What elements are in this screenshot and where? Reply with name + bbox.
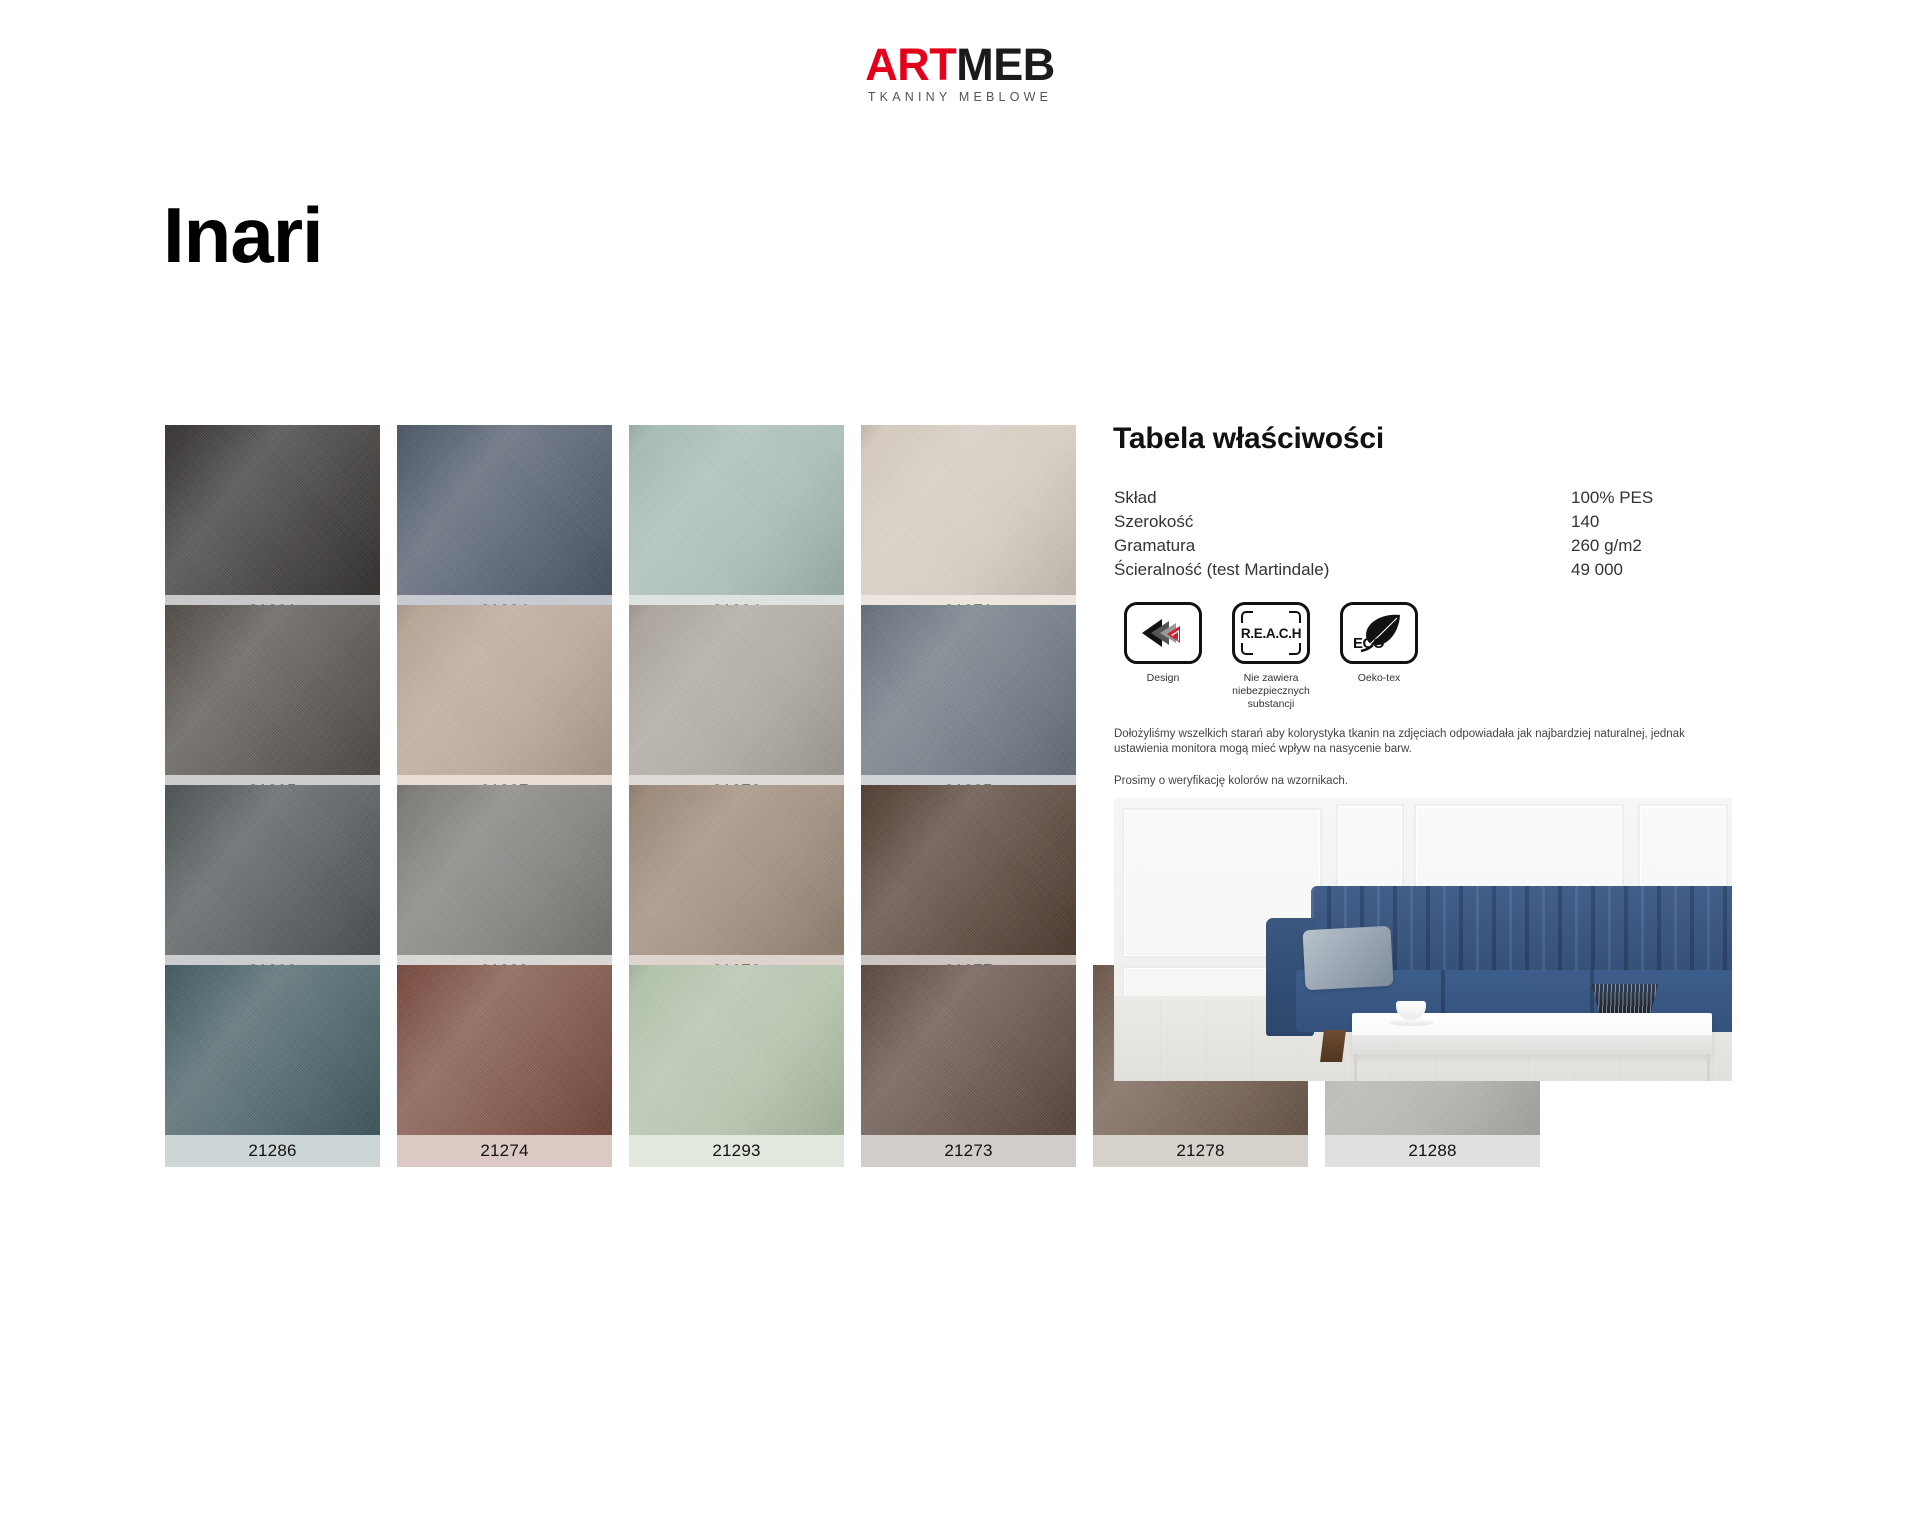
disclaimer-paragraph-2: Prosimy o weryfikację kolorów na wzornik… — [1114, 774, 1732, 789]
fabric-swatch[interactable]: 21273 — [861, 965, 1076, 1167]
property-row: Ścieralność (test Martindale)49 000 — [1114, 558, 1724, 582]
corner-bottom-right — [1289, 643, 1301, 655]
design-arrow-icon — [1124, 602, 1202, 664]
fabric-swatch-code: 21278 — [1093, 1135, 1308, 1167]
throw-pillow — [1302, 926, 1393, 991]
property-key: Skład — [1114, 486, 1571, 510]
fabric-swatch-code: 21288 — [1325, 1135, 1540, 1167]
badge-design-caption: Design — [1124, 672, 1202, 685]
eco-label: ECO — [1353, 635, 1384, 652]
property-value: 49 000 — [1571, 558, 1724, 582]
fabric-swatch-code: 21273 — [861, 1135, 1076, 1167]
disclaimer-paragraph-1: Dołożyliśmy wszelkich starań aby kolorys… — [1114, 727, 1732, 757]
corner-top-right — [1289, 611, 1301, 623]
logo-art-text: ART — [865, 39, 956, 90]
fabric-swatch[interactable]: 21274 — [397, 965, 612, 1167]
saucer — [1389, 1019, 1434, 1026]
corner-bottom-left — [1241, 643, 1253, 655]
property-value: 100% PES — [1571, 486, 1724, 510]
fabric-swatch[interactable]: 21290 — [165, 785, 380, 987]
fabric-swatch[interactable]: 21293 — [629, 965, 844, 1167]
fabric-swatch[interactable]: 21271 — [861, 425, 1076, 627]
fabric-swatch[interactable]: 21284 — [397, 425, 612, 627]
badge-design: Design — [1124, 602, 1202, 711]
reach-label: R.E.A.C.H — [1241, 626, 1301, 641]
certification-badges: Design R.E.A.C.H Nie zawiera niebezpiecz… — [1124, 602, 1418, 711]
catalog-page: ARTMEB TKANINY MEBLOWE Inari 21291212842… — [0, 0, 1920, 1538]
reach-icon: R.E.A.C.H — [1232, 602, 1310, 664]
property-row: Skład100% PES — [1114, 486, 1724, 510]
logo-wordmark: ARTMEB TKANINY MEBLOWE — [865, 42, 1054, 104]
property-row: Szerokość140 — [1114, 510, 1724, 534]
fabric-swatch[interactable]: 21276 — [629, 605, 844, 807]
fabric-swatch[interactable]: 21289 — [397, 785, 612, 987]
eco-leaf-icon: ECO — [1340, 602, 1418, 664]
property-value: 260 g/m2 — [1571, 534, 1724, 558]
property-key: Szerokość — [1114, 510, 1571, 534]
corner-top-left — [1241, 611, 1253, 623]
interior-photo — [1114, 798, 1732, 1081]
fabric-swatch[interactable]: 21294 — [629, 425, 844, 627]
fabric-swatch[interactable]: 21295 — [165, 605, 380, 807]
color-disclaimer: Dołożyliśmy wszelkich starań aby kolorys… — [1114, 727, 1732, 789]
brand-logo: ARTMEB TKANINY MEBLOWE — [0, 42, 1920, 106]
fabric-swatch-code: 21293 — [629, 1135, 844, 1167]
badge-oekotex-caption: Oeko-tex — [1340, 672, 1418, 685]
logo-tagline: TKANINY MEBLOWE — [865, 91, 1054, 104]
badge-reach-caption: Nie zawiera niebezpiecznych substancji — [1232, 672, 1310, 711]
design-arrow-glyph — [1140, 616, 1186, 650]
fabric-swatch[interactable]: 21291 — [165, 425, 380, 627]
fabric-swatch-code: 21286 — [165, 1135, 380, 1167]
fabric-swatch[interactable]: 21277 — [861, 785, 1076, 987]
badge-oekotex: ECO Oeko-tex — [1340, 602, 1418, 711]
logo-meb-text: MEB — [956, 39, 1055, 90]
sofa-leg — [1320, 1030, 1346, 1062]
property-key: Gramatura — [1114, 534, 1571, 558]
fabric-swatch[interactable]: 21285 — [861, 605, 1076, 807]
properties-table: Skład100% PESSzerokość140Gramatura260 g/… — [1114, 486, 1724, 582]
property-row: Gramatura260 g/m2 — [1114, 534, 1724, 558]
fabric-swatch[interactable]: 21272 — [629, 785, 844, 987]
fabric-swatch-code: 21274 — [397, 1135, 612, 1167]
badge-reach: R.E.A.C.H Nie zawiera niebezpiecznych su… — [1232, 602, 1310, 711]
properties-heading: Tabela właściwości — [1113, 422, 1384, 456]
fabric-swatch[interactable]: 21286 — [165, 965, 380, 1167]
property-key: Ścieralność (test Martindale) — [1114, 558, 1571, 582]
page-title: Inari — [163, 196, 323, 274]
property-value: 140 — [1571, 510, 1724, 534]
fabric-swatch[interactable]: 21287 — [397, 605, 612, 807]
coffee-table-legs — [1354, 1054, 1710, 1081]
